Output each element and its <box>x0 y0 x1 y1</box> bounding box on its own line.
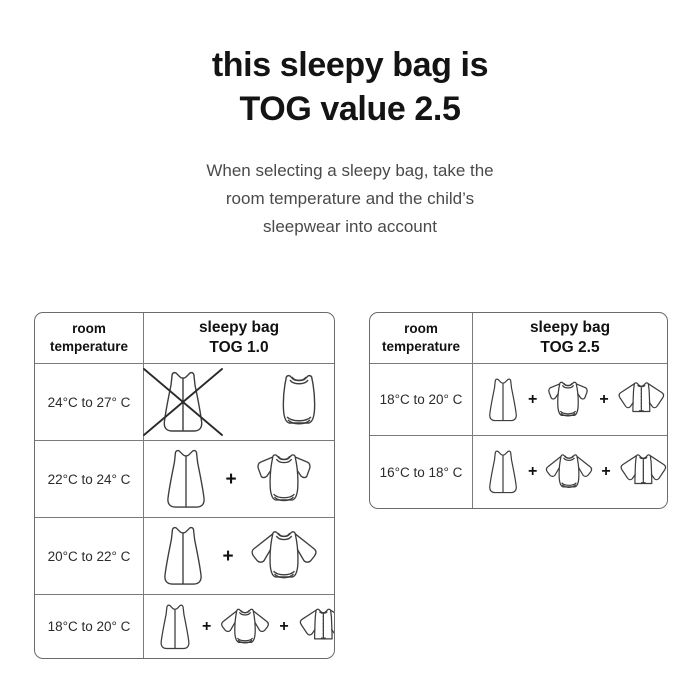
page-header: this sleepy bag is TOG value 2.5 When se… <box>0 0 700 241</box>
bodysuit-long-sleeve-icon <box>243 525 325 587</box>
plus-symbol: + <box>222 547 233 566</box>
table-row: 24°C to 27° C <box>35 364 334 441</box>
cell-sleepwear-combination: + + <box>473 436 668 508</box>
plus-symbol: + <box>601 464 610 480</box>
bodysuit-sleeveless-icon <box>268 370 330 434</box>
column-header-sleepy-bag-line-2: TOG 2.5 <box>540 338 599 358</box>
sleepy-bag-crossed-out <box>152 369 214 435</box>
cell-sleepwear-combination: + <box>144 441 334 517</box>
table-row: 18°C to 20° C + <box>370 364 667 436</box>
page-title: this sleepy bag is TOG value 2.5 <box>70 44 630 131</box>
plus-symbol: + <box>528 392 537 408</box>
cardigan-icon <box>614 445 668 499</box>
table-header-row: room temperature sleepy bag TOG 2.5 <box>370 313 667 364</box>
column-header-sleepy-bag-line-1: sleepy bag <box>199 318 279 338</box>
table-row: 20°C to 22° C + <box>35 518 334 595</box>
sleepy-bag-icon <box>152 369 214 435</box>
table-row: 22°C to 24° C + <box>35 441 334 518</box>
plus-symbol: + <box>599 392 608 408</box>
table-header-row: room temperature sleepy bag TOG 1.0 <box>35 313 334 364</box>
column-header-room-temperature-line-2: temperature <box>382 338 460 356</box>
column-header-sleepy-bag: sleepy bag TOG 1.0 <box>144 313 334 363</box>
cell-sleepwear-combination: + <box>144 518 334 594</box>
cell-room-temperature: 20°C to 22° C <box>35 518 144 594</box>
sleepy-bag-icon <box>153 523 213 589</box>
cell-room-temperature: 24°C to 27° C <box>35 364 144 440</box>
plus-symbol: + <box>202 619 211 635</box>
page-subtitle-line-3: sleepwear into account <box>135 213 565 241</box>
table-tog-2-5: room temperature sleepy bag TOG 2.5 18°C… <box>369 312 668 509</box>
table-tog-1-0: room temperature sleepy bag TOG 1.0 24°C… <box>34 312 335 659</box>
plus-symbol: + <box>528 464 537 480</box>
sleepy-bag-icon <box>481 444 525 500</box>
page-title-line-1: this sleepy bag is <box>70 44 630 88</box>
column-header-room-temperature-line-1: room <box>404 320 438 338</box>
cell-room-temperature: 22°C to 24° C <box>35 441 144 517</box>
bodysuit-long-sleeve-icon <box>215 601 275 653</box>
cell-sleepwear-combination <box>144 364 335 440</box>
column-header-room-temperature: room temperature <box>370 313 473 363</box>
sleepy-bag-icon <box>156 446 216 512</box>
cell-sleepwear-combination: + + <box>144 595 335 658</box>
cardigan-icon <box>293 601 335 653</box>
bodysuit-short-sleeve-icon <box>540 373 596 427</box>
bodysuit-long-sleeve-icon <box>540 445 598 499</box>
cardigan-icon <box>612 373 668 427</box>
plus-symbol: + <box>225 470 236 489</box>
table-row: 16°C to 18° C + <box>370 436 667 508</box>
page-subtitle-line-1: When selecting a sleepy bag, take the <box>135 157 565 185</box>
page-subtitle: When selecting a sleepy bag, take the ro… <box>135 157 565 241</box>
cell-sleepwear-combination: + + <box>473 364 668 435</box>
column-header-sleepy-bag-line-2: TOG 1.0 <box>209 338 268 358</box>
cell-room-temperature: 18°C to 20° C <box>35 595 144 658</box>
column-header-room-temperature-line-1: room <box>72 320 106 338</box>
page-title-line-2: TOG value 2.5 <box>70 88 630 132</box>
plus-symbol: + <box>279 619 288 635</box>
table-row: 18°C to 20° C + <box>35 595 334 658</box>
column-header-sleepy-bag-line-1: sleepy bag <box>530 318 610 338</box>
sleepy-bag-icon <box>481 372 525 428</box>
cell-room-temperature: 18°C to 20° C <box>370 364 473 435</box>
sleepy-bag-icon <box>152 600 198 654</box>
page-subtitle-line-2: room temperature and the child’s <box>135 185 565 213</box>
bodysuit-short-sleeve-icon <box>246 448 322 510</box>
column-header-room-temperature-line-2: temperature <box>50 338 128 356</box>
cell-room-temperature: 16°C to 18° C <box>370 436 473 508</box>
column-header-sleepy-bag: sleepy bag TOG 2.5 <box>473 313 667 363</box>
column-header-room-temperature: room temperature <box>35 313 144 363</box>
